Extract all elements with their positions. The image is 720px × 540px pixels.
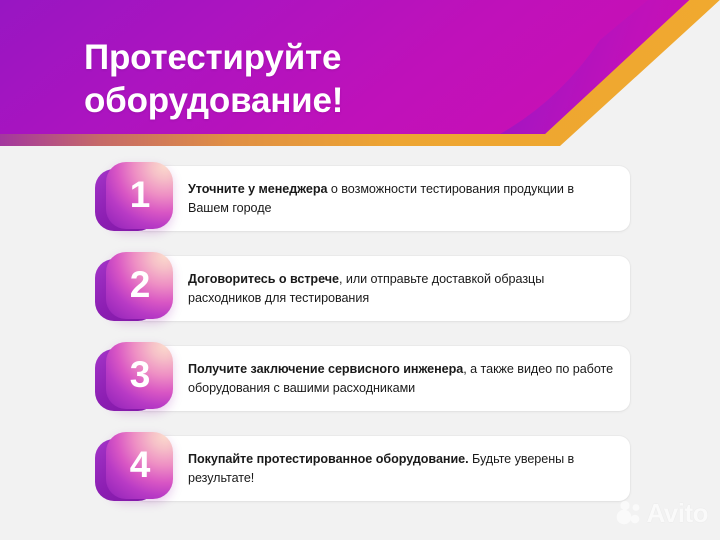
- step-text-bold: Покупайте протестированное оборудование.: [188, 452, 469, 466]
- steps-list: Уточните у менеджера о возможности тести…: [0, 162, 720, 522]
- step-card: Уточните у менеджера о возможности тести…: [135, 166, 630, 231]
- list-item: Покупайте протестированное оборудование.…: [0, 432, 720, 505]
- step-badge: 1: [95, 162, 173, 235]
- step-badge: 3: [95, 342, 173, 415]
- page-title: Протестируйте оборудование!: [84, 37, 604, 122]
- badge-number: 3: [130, 356, 150, 393]
- header-banner: Протестируйте оборудование!: [0, 0, 720, 146]
- badge-front-layer: 3: [106, 342, 173, 409]
- step-text: Уточните у менеджера о возможности тести…: [135, 180, 630, 217]
- list-item: Получите заключение сервисного инженера,…: [0, 342, 720, 415]
- badge-front-layer: 4: [106, 432, 173, 499]
- badge-number: 2: [130, 266, 150, 303]
- step-text-bold: Договоритесь о встрече: [188, 272, 339, 286]
- step-card: Покупайте протестированное оборудование.…: [135, 436, 630, 501]
- step-text: Покупайте протестированное оборудование.…: [135, 450, 630, 487]
- badge-number: 1: [130, 176, 150, 213]
- step-text: Получите заключение сервисного инженера,…: [135, 360, 630, 397]
- list-item: Договоритесь о встрече, или отправьте до…: [0, 252, 720, 325]
- step-text-bold: Уточните у менеджера: [188, 182, 327, 196]
- step-text-bold: Получите заключение сервисного инженера: [188, 362, 463, 376]
- badge-front-layer: 1: [106, 162, 173, 229]
- avito-dots-icon: [616, 500, 642, 526]
- step-badge: 2: [95, 252, 173, 325]
- avito-watermark: Avito: [616, 500, 708, 526]
- step-card: Договоритесь о встрече, или отправьте до…: [135, 256, 630, 321]
- step-text: Договоритесь о встрече, или отправьте до…: [135, 270, 630, 307]
- step-badge: 4: [95, 432, 173, 505]
- avito-wordmark: Avito: [646, 500, 708, 526]
- badge-front-layer: 2: [106, 252, 173, 319]
- step-card: Получите заключение сервисного инженера,…: [135, 346, 630, 411]
- poster-canvas: Протестируйте оборудование! Уточните у м…: [0, 0, 720, 540]
- badge-number: 4: [130, 446, 150, 483]
- list-item: Уточните у менеджера о возможности тести…: [0, 162, 720, 235]
